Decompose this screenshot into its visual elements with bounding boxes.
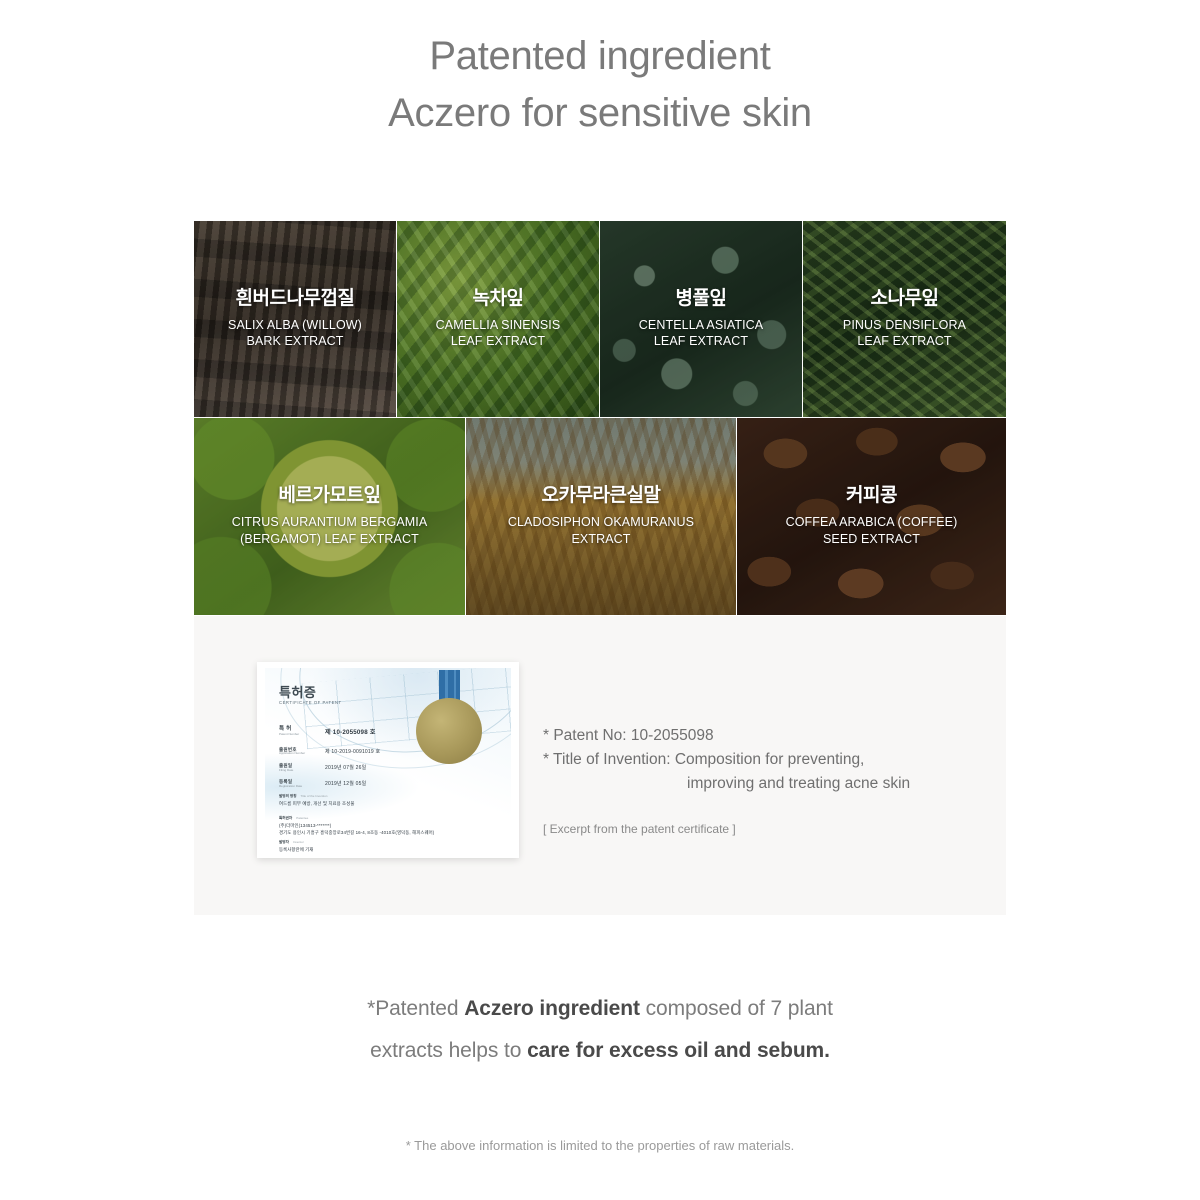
certificate-row-label: 출원번호 Application Number [279,747,325,756]
certificate-block-patentee: 특허권자 Patentee (주)더마인(134513-*******) 경기도… [279,816,494,836]
ingredient-name-en: CLADOSIPHON OKAMURANUS EXTRACT [508,514,694,548]
certificate-block-head-en: Title of the Invention [301,794,328,798]
ingredient-card-labels: 커피콩 COFFEA ARABICA (COFFEE) SEED EXTRACT [780,485,964,548]
certificate-row-label-en: Registration Date [279,785,325,789]
certificate-row-value: 2019년 12월 05일 [325,779,366,787]
ingredient-name-en: CITRUS AURANTIUM BERGAMIA (BERGAMOT) LEA… [232,514,428,548]
summary-line-2: extracts helps to care for excess oil an… [0,1030,1200,1072]
certificate-block-body: 여드름 피부 예방, 개선 및 치료용 조성물 [279,801,494,808]
ingredient-grid-row-1: 흰버드나무껍질 SALIX ALBA (WILLOW) BARK EXTRACT… [194,221,1006,417]
summary-line-2-highlight: care for excess oil and sebum. [527,1039,830,1062]
ingredient-name-kr: 녹차잎 [436,288,561,311]
certificate-block-head: 특허권자 Patentee [279,816,494,821]
certificate-row-label-en: Filing Date [279,769,325,773]
summary-text: *Patented Aczero ingredient composed of … [0,988,1200,1072]
certificate-block-head-kr: 발명의 명칭 [279,794,297,799]
ingredient-card-pine[interactable]: 소나무잎 PINUS DENSIFLORA LEAF EXTRACT [803,221,1006,417]
certificate-block-head-kr: 발명자 [279,840,289,845]
ingredient-name-en: CAMELLIA SINENSIS LEAF EXTRACT [436,317,561,351]
certificate-title-en: CERTIFICATE OF PATENT [279,701,342,705]
footnote: * The above information is limited to th… [0,1138,1200,1153]
patent-panel: 특허증 CERTIFICATE OF PATENT 특 허 Patent Num… [194,616,1006,915]
patent-number-line: * Patent No: 10-2055098 [543,724,973,748]
page-title-line-1: Patented ingredient [0,28,1200,85]
certificate-heading: 특허증 CERTIFICATE OF PATENT [279,686,342,705]
certificate-row-label-en: Application Number [279,752,325,756]
certificate-field-rows: 특 허 Patent Number 제 10-2055098 호 출원번호 Ap… [279,726,479,796]
summary-line-1: *Patented Aczero ingredient composed of … [0,988,1200,1030]
ingredient-name-kr: 병풀잎 [639,288,763,311]
ingredient-card-labels: 흰버드나무껍질 SALIX ALBA (WILLOW) BARK EXTRACT [222,288,368,351]
patent-excerpt-note: [ Excerpt from the patent certificate ] [543,822,973,836]
certificate-row-value: 제 10-2055098 호 [325,726,376,736]
certificate-row: 출원번호 Application Number 제 10-2019-009101… [279,747,479,756]
ingredient-name-kr: 흰버드나무껍질 [228,288,362,311]
ingredient-name-kr: 베르가모트잎 [232,485,428,508]
certificate-row-label: 등록일 Registration Date [279,779,325,788]
certificate-row-label-en: Patent Number [279,733,325,737]
page-title: Patented ingredient Aczero for sensitive… [0,0,1200,142]
patent-certificate-thumbnail[interactable]: 특허증 CERTIFICATE OF PATENT 특 허 Patent Num… [257,662,519,858]
ingredient-name-en: COFFEA ARABICA (COFFEE) SEED EXTRACT [786,514,958,548]
certificate-block-head: 발명자 Inventor [279,840,494,845]
ingredient-name-kr: 소나무잎 [843,288,966,311]
ingredient-card-labels: 베르가모트잎 CITRUS AURANTIUM BERGAMIA (BERGAM… [226,485,434,548]
summary-line-1-part-a: *Patented [367,997,464,1020]
certificate-block-body: 등록사항란에 기재 [279,847,494,852]
summary-line-1-highlight: Aczero ingredient [464,997,640,1020]
ingredient-card-bergamot[interactable]: 베르가모트잎 CITRUS AURANTIUM BERGAMIA (BERGAM… [194,418,465,615]
certificate-row: 출원일 Filing Date 2019년 07월 26일 [279,763,479,772]
certificate-block-head: 발명의 명칭 Title of the Invention [279,794,494,799]
ingredient-card-labels: 소나무잎 PINUS DENSIFLORA LEAF EXTRACT [837,288,972,351]
ingredient-card-coffee-bean[interactable]: 커피콩 COFFEA ARABICA (COFFEE) SEED EXTRACT [737,418,1006,615]
certificate-row: 등록일 Registration Date 2019년 12월 05일 [279,779,479,788]
certificate-block-head-en: Inventor [293,840,304,844]
certificate-block-invention-title: 발명의 명칭 Title of the Invention 여드름 피부 예방,… [279,794,494,808]
certificate-title-kr: 특허증 [279,686,342,699]
patent-title-line-1: * Title of Invention: Composition for pr… [543,748,973,772]
certificate-block-body: (주)더마인(134513-*******) 경기도 용인시 기흥구 흥덕중앙로… [279,823,494,836]
certificate-row-label: 특 허 Patent Number [279,726,325,737]
certificate-block-head-en: Patentee [296,816,308,820]
summary-line-2-part-a: extracts helps to [370,1039,527,1062]
ingredient-card-green-tea[interactable]: 녹차잎 CAMELLIA SINENSIS LEAF EXTRACT [397,221,599,417]
summary-line-1-part-c: composed of 7 plant [640,997,833,1020]
ingredient-name-en: CENTELLA ASIATICA LEAF EXTRACT [639,317,763,351]
ingredient-card-centella[interactable]: 병풀잎 CENTELLA ASIATICA LEAF EXTRACT [600,221,802,417]
page-title-line-2: Aczero for sensitive skin [0,85,1200,142]
certificate-row: 특 허 Patent Number 제 10-2055098 호 [279,726,479,737]
patent-title-line-2: improving and treating acne skin [543,772,973,796]
certificate-row-value: 2019년 07월 26일 [325,763,366,771]
ingredient-card-labels: 병풀잎 CENTELLA ASIATICA LEAF EXTRACT [633,288,769,351]
ingredient-grid-row-2: 베르가모트잎 CITRUS AURANTIUM BERGAMIA (BERGAM… [194,418,1006,615]
certificate-row-value: 제 10-2019-0091019 호 [325,747,380,755]
ingredient-name-kr: 커피콩 [786,485,958,508]
certificate-page: 특허증 CERTIFICATE OF PATENT 특 허 Patent Num… [265,668,511,852]
certificate-block-head-kr: 특허권자 [279,816,292,821]
ingredient-card-willow-bark[interactable]: 흰버드나무껍질 SALIX ALBA (WILLOW) BARK EXTRACT [194,221,396,417]
ingredient-card-labels: 녹차잎 CAMELLIA SINENSIS LEAF EXTRACT [430,288,567,351]
ingredient-card-labels: 오카무라큰실말 CLADOSIPHON OKAMURANUS EXTRACT [502,485,700,548]
ingredient-card-okamuranus[interactable]: 오카무라큰실말 CLADOSIPHON OKAMURANUS EXTRACT [466,418,736,615]
ingredient-name-kr: 오카무라큰실말 [508,485,694,508]
ingredient-grid: 흰버드나무껍질 SALIX ALBA (WILLOW) BARK EXTRACT… [194,221,1006,615]
ingredient-name-en: SALIX ALBA (WILLOW) BARK EXTRACT [228,317,362,351]
ingredient-name-en: PINUS DENSIFLORA LEAF EXTRACT [843,317,966,351]
patent-details: * Patent No: 10-2055098 * Title of Inven… [543,724,973,836]
certificate-row-label: 출원일 Filing Date [279,763,325,772]
certificate-block-inventor: 발명자 Inventor 등록사항란에 기재 [279,840,494,852]
